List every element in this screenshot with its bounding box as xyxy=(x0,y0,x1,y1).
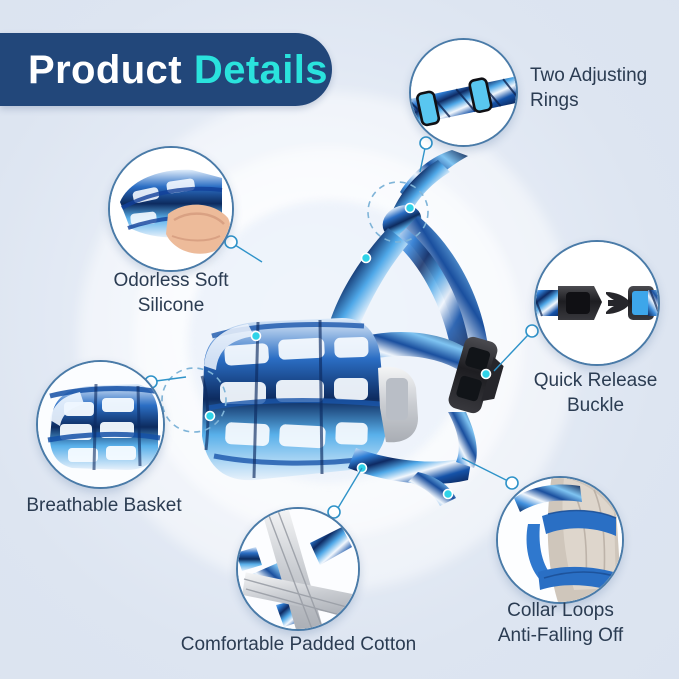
page-title-banner: ProductDetails xyxy=(0,33,332,106)
callout-label-quick-release-buckle: Quick Release Buckle xyxy=(518,368,673,418)
callout-label-odorless-soft-silicone: Odorless Soft Silicone xyxy=(96,268,246,318)
callout-label-breathable-basket: Breathable Basket xyxy=(14,493,194,518)
callout-label-two-adjusting-rings: Two Adjusting Rings xyxy=(530,63,675,113)
title-word-details: Details xyxy=(194,48,328,92)
callout-image-quick-release-buckle xyxy=(534,240,660,366)
callout-label-comfortable-padded-cotton: Comfortable Padded Cotton xyxy=(176,632,421,657)
callout-image-breathable-basket xyxy=(36,360,165,489)
infographic-canvas: ProductDetails xyxy=(0,0,679,679)
callout-image-odorless-soft-silicone xyxy=(108,146,234,272)
buckle-female-half xyxy=(558,286,602,320)
callout-image-collar-loops xyxy=(496,476,624,604)
title-word-product: Product xyxy=(28,48,182,92)
connector-dot-two-adjusting-rings xyxy=(420,137,432,149)
callout-label-collar-loops-anti-falling-off: Collar Loops Anti-Falling Off xyxy=(478,598,643,648)
callout-image-comfortable-padded-cotton xyxy=(236,507,360,631)
page-title: ProductDetails xyxy=(28,50,328,90)
callout-image-two-adjusting-rings xyxy=(409,38,518,147)
